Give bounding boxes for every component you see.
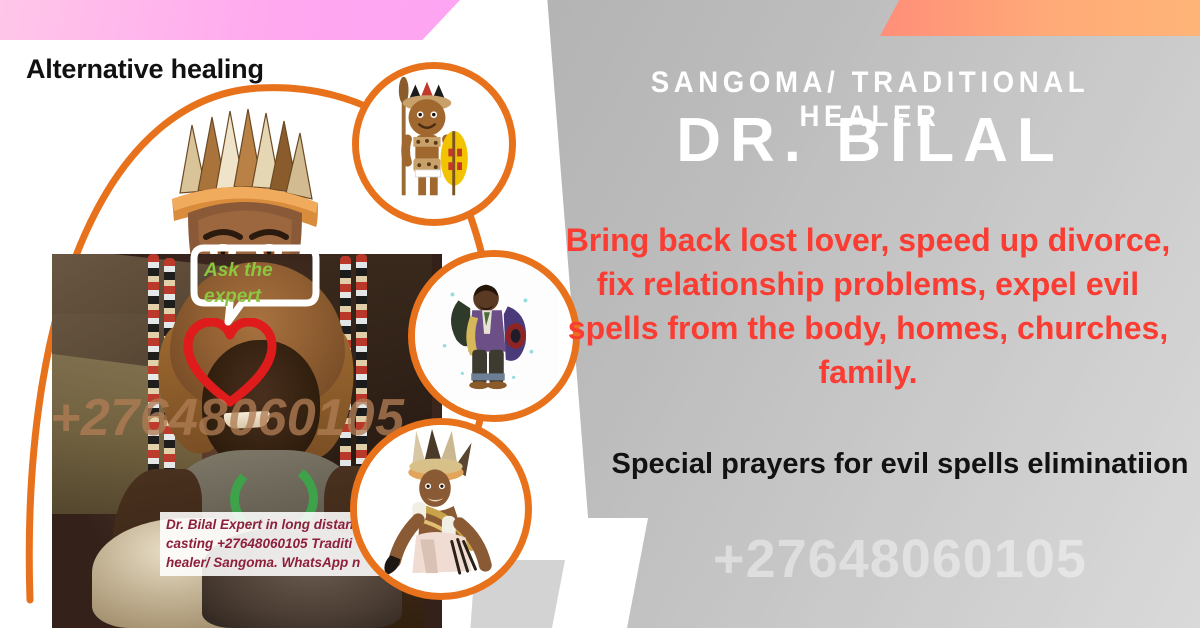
pink-accent-band xyxy=(0,0,460,40)
sangoma-dancer-illustration xyxy=(350,418,532,600)
zulu-warrior-illustration xyxy=(352,62,516,226)
healer-name: DR. BILAL xyxy=(560,105,1180,176)
phone-number-watermark: +27648060105 xyxy=(600,528,1200,590)
prayers-text: Special prayers for evil spells eliminat… xyxy=(600,444,1200,485)
ask-the-expert-label: Ask the expert xyxy=(204,258,308,309)
orange-accent-band xyxy=(880,0,1200,36)
speech-bubble-text-wrap: Ask the expert xyxy=(190,244,320,326)
phone-overlay-watermark: +27648060105 xyxy=(50,388,405,448)
page-title: Alternative healing xyxy=(26,54,264,85)
poster-canvas: Alternative healing xyxy=(0,0,1200,628)
services-text: Bring back lost lover, speed up divorce,… xyxy=(548,218,1188,395)
